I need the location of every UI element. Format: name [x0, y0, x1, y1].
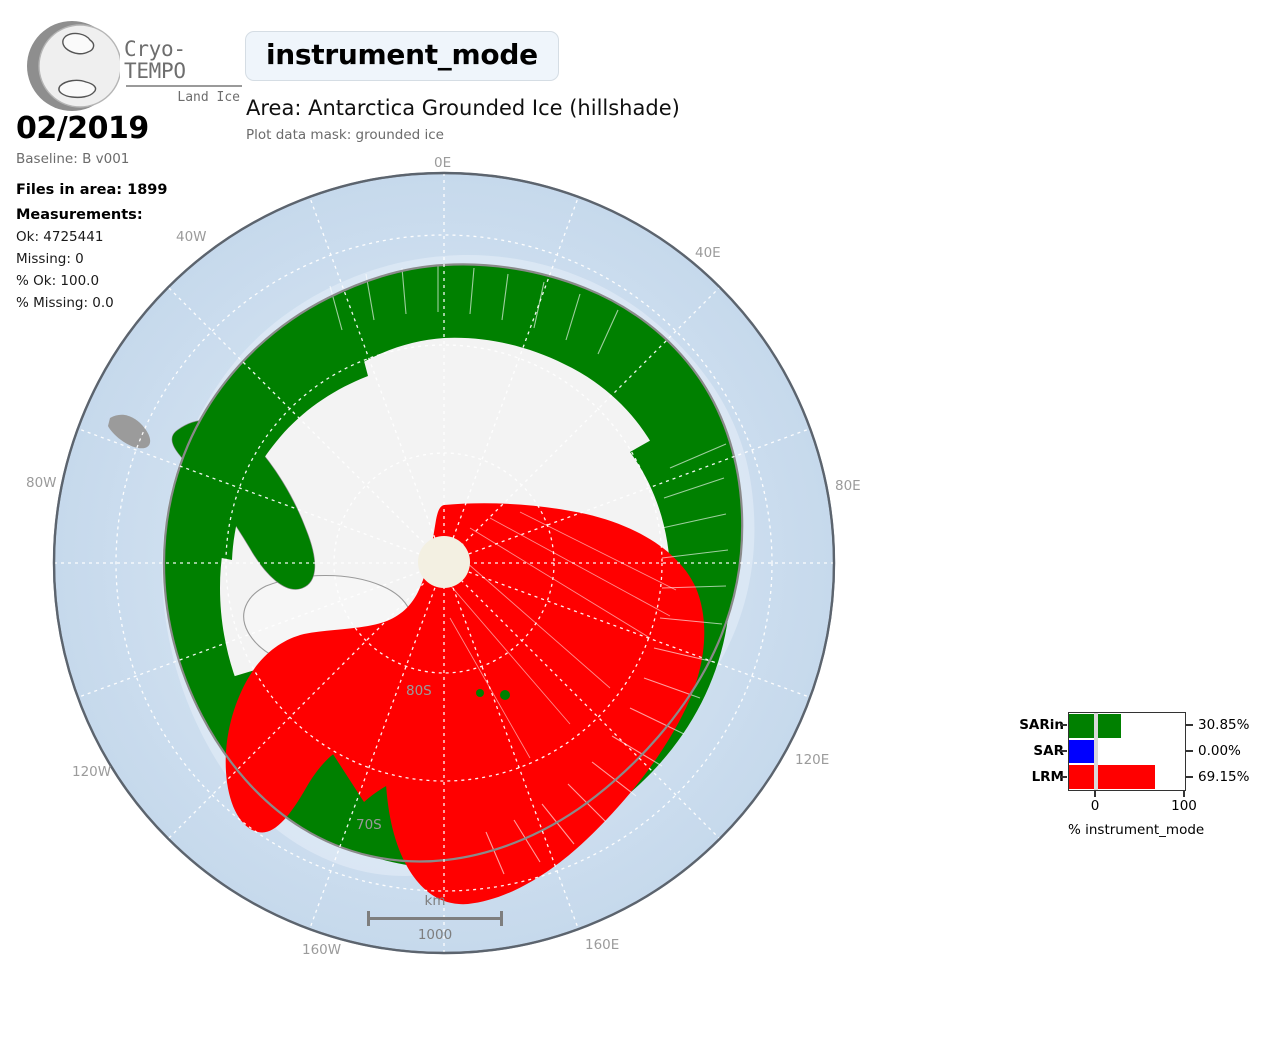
instrument-mode-bar-chart: SARin 30.85% SAR 0.00% LRM 69.15% 0 100 … [1000, 706, 1260, 846]
xtick-label-100: 100 [1171, 798, 1197, 814]
meridian-label-160W: 160W [302, 942, 341, 958]
pole-adjacent-patch-a [476, 689, 484, 697]
meridian-label-0E: 0E [434, 155, 451, 171]
globe-icon [24, 18, 120, 114]
logo-divider [126, 85, 242, 87]
meridian-label-40E: 40E [695, 245, 721, 261]
meridian-label-80E: 80E [835, 478, 861, 494]
bar-row-lrm [1069, 764, 1185, 790]
latitude-label-80S: 80S [406, 683, 432, 699]
bar-row-sarin [1069, 713, 1185, 739]
bar-value-sar: 0.00% [1198, 743, 1241, 759]
map-scalebar: km 1000 [360, 893, 510, 943]
meridian-label-160E: 160E [585, 937, 619, 953]
pole-adjacent-patch-b [500, 690, 510, 700]
plot-mask-subtitle: Plot data mask: grounded ice [246, 127, 444, 143]
bar-chart-xlabel: % instrument_mode [1068, 822, 1186, 838]
bar-row-sar [1069, 739, 1185, 765]
xtick-100 [1183, 791, 1185, 797]
bar-tick-sarin [1060, 724, 1067, 726]
logo-subtitle: Land Ice [124, 90, 240, 105]
meridian-label-120E: 120E [795, 752, 829, 768]
xtick-label-0: 0 [1091, 798, 1100, 814]
page-title: Area: Antarctica Grounded Ice (hillshade… [246, 96, 680, 120]
pole-data-gap [418, 536, 470, 588]
parameter-badge: instrument_mode [245, 31, 559, 81]
bar-rtick-lrm [1186, 776, 1193, 778]
meridian-label-120W: 120W [72, 764, 111, 780]
bar-label-sarin: SARin [1019, 717, 1064, 733]
scalebar-length: 1000 [360, 927, 510, 943]
scalebar-line [367, 917, 503, 920]
scalebar-graphic [360, 911, 510, 925]
zero-gridline [1094, 713, 1098, 790]
brand-logo: Cryo-TEMPO Land Ice [16, 12, 236, 107]
bar-value-lrm: 69.15% [1198, 769, 1249, 785]
polar-map: 0E 40E 80E 120E 160E 160W 120W 80W 40W 7… [50, 168, 840, 958]
bar-rtick-sarin [1186, 724, 1193, 726]
map-canvas [50, 168, 840, 958]
xtick-0 [1094, 791, 1096, 797]
month-label: 02/2019 [16, 112, 236, 147]
bar-chart-axes [1068, 712, 1186, 791]
meridian-label-80W: 80W [26, 475, 57, 491]
bar-tick-sar [1060, 750, 1067, 752]
latitude-label-70S: 70S [356, 817, 382, 833]
scalebar-units: km [360, 893, 510, 909]
bar-tick-lrm [1060, 776, 1067, 778]
logo-title: Cryo-TEMPO [124, 38, 244, 82]
bar-value-sarin: 30.85% [1198, 717, 1249, 733]
bar-sar [1069, 740, 1094, 764]
bar-rtick-sar [1186, 750, 1193, 752]
bar-lrm [1069, 765, 1155, 789]
scalebar-cap-left [367, 911, 370, 926]
meridian-label-40W: 40W [176, 229, 207, 245]
baseline-label: Baseline: B v001 [16, 151, 236, 167]
scalebar-cap-right [500, 911, 503, 926]
